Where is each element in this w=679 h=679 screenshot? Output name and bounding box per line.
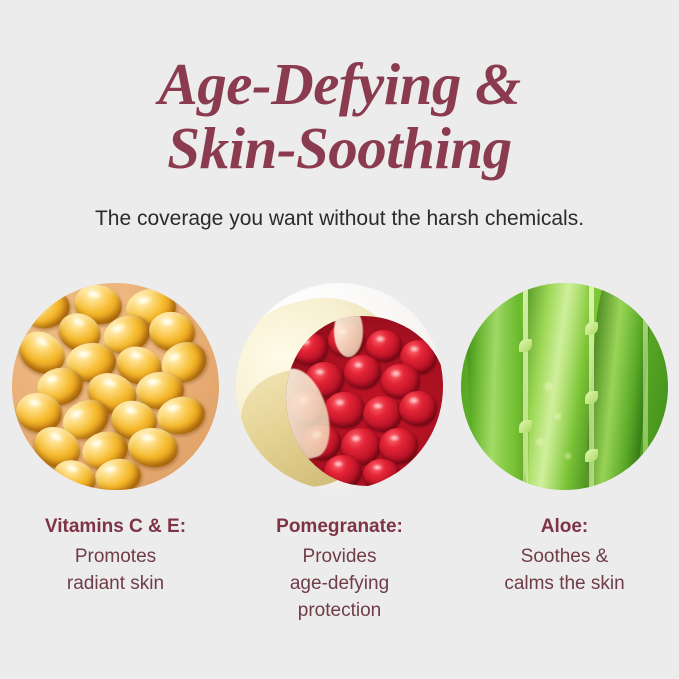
description-line: radiant skin [12, 570, 219, 597]
ingredient-caption: Pomegranate: Provides age-defying protec… [236, 515, 443, 624]
description-line: protection [236, 597, 443, 624]
headline-line-1: Age-Defying & [0, 52, 679, 116]
page-title: Age-Defying & Skin-Soothing [0, 52, 679, 180]
description-line: calms the skin [461, 570, 668, 597]
description-line: Promotes [12, 543, 219, 570]
aloe-leaf [523, 283, 593, 490]
ingredient-title: Pomegranate: [236, 515, 443, 539]
description-line: age-defying [236, 570, 443, 597]
subtitle: The coverage you want without the harsh … [0, 204, 679, 234]
aloe-speckle [536, 438, 544, 446]
ingredient-row: Vitamins C & E: Promotes radiant skin [0, 283, 679, 643]
description-line: Soothes & [461, 543, 668, 570]
ingredient-description: Provides age-defying protection [236, 543, 443, 624]
ingredient-caption: Aloe: Soothes & calms the skin [461, 515, 668, 597]
aloe-leaf-edge [643, 283, 648, 490]
ingredient-card-aloe: Aloe: Soothes & calms the skin [461, 283, 668, 597]
ingredient-title: Aloe: [461, 515, 668, 539]
pomegranate-aril-cluster [286, 316, 443, 486]
ingredient-card-vitamins: Vitamins C & E: Promotes radiant skin [12, 283, 219, 597]
ingredient-card-pomegranate: Pomegranate: Provides age-defying protec… [236, 283, 443, 624]
promo-graphic: Age-Defying & Skin-Soothing The coverage… [0, 0, 679, 679]
description-line: Provides [236, 543, 443, 570]
ingredient-description: Soothes & calms the skin [461, 543, 668, 597]
headline-line-2: Skin-Soothing [0, 116, 679, 180]
ingredient-caption: Vitamins C & E: Promotes radiant skin [12, 515, 219, 597]
aloe-leaves-photo [461, 283, 668, 490]
ingredient-title: Vitamins C & E: [12, 515, 219, 539]
aloe-speckle [565, 453, 571, 459]
ingredient-description: Promotes radiant skin [12, 543, 219, 597]
pomegranate-photo [236, 283, 443, 490]
vitamin-capsules-photo [12, 283, 219, 490]
aloe-leaf-edge [523, 283, 528, 490]
